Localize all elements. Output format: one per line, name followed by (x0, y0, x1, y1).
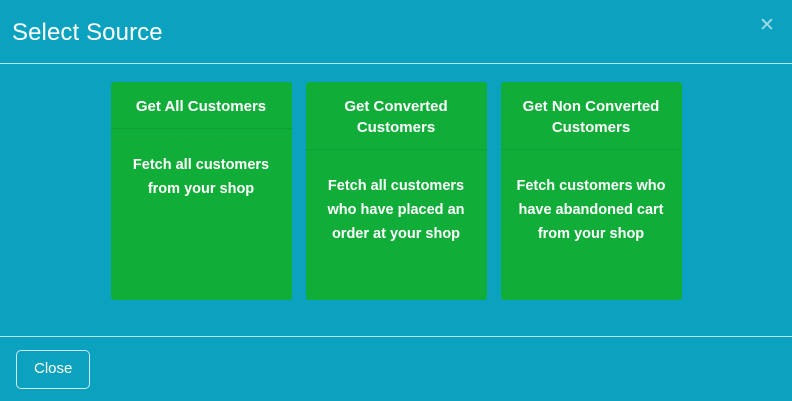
source-card-non-converted-customers[interactable]: Get Non Converted Customers Fetch custom… (501, 82, 682, 300)
card-title: Get Non Converted Customers (513, 96, 670, 138)
source-card-list: Get All Customers Fetch all customers fr… (0, 82, 792, 300)
card-description: Fetch all customers who have placed an o… (320, 174, 473, 246)
card-body: Fetch customers who have abandoned cart … (501, 150, 682, 300)
modal-footer: Close (0, 336, 792, 401)
close-icon[interactable]: ✕ (755, 13, 779, 37)
card-description: Fetch customers who have abandoned cart … (515, 174, 668, 246)
modal-body: Get All Customers Fetch all customers fr… (0, 64, 792, 336)
card-header: Get Non Converted Customers (501, 82, 682, 150)
card-body: Fetch all customers who have placed an o… (306, 150, 487, 300)
card-header: Get All Customers (111, 82, 292, 129)
select-source-modal: Select Source ✕ Get All Customers Fetch … (0, 0, 792, 401)
source-card-all-customers[interactable]: Get All Customers Fetch all customers fr… (111, 82, 292, 300)
card-description: Fetch all customers from your shop (125, 153, 278, 201)
card-header: Get Converted Customers (306, 82, 487, 150)
modal-header: Select Source ✕ (0, 0, 792, 64)
page-title: Select Source (0, 18, 163, 48)
close-button[interactable]: Close (16, 350, 90, 389)
card-body: Fetch all customers from your shop (111, 129, 292, 300)
card-title: Get All Customers (123, 96, 280, 117)
card-title: Get Converted Customers (318, 96, 475, 138)
source-card-converted-customers[interactable]: Get Converted Customers Fetch all custom… (306, 82, 487, 300)
